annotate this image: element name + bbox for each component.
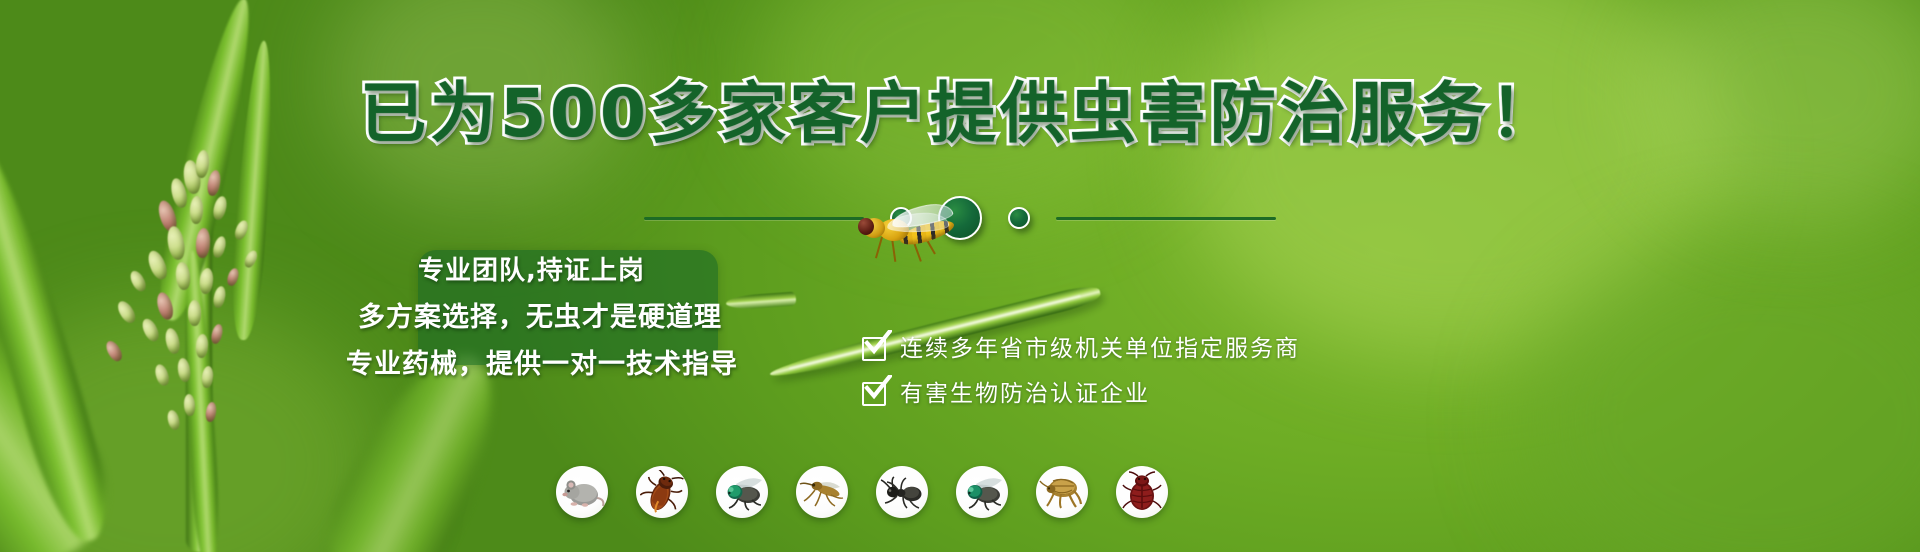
leaf-blade <box>149 0 266 325</box>
divider-dot-large <box>938 196 982 240</box>
divider-rule-left <box>644 217 864 220</box>
pest-icon-blowfly[interactable]: 绿头蝇 <box>956 466 1008 518</box>
divider-dot-small <box>1008 207 1030 229</box>
pest-icon-bedbug[interactable]: 臭虫 <box>1116 466 1168 518</box>
list-item-label: 有害生物防治认证企业 <box>900 381 1150 407</box>
flower-bud <box>183 394 196 417</box>
pest-icon-ant[interactable]: 蚂蚁 <box>876 466 928 518</box>
fly-leg <box>911 237 922 262</box>
flower-bud <box>128 268 149 293</box>
flower-bud <box>153 363 171 388</box>
ant-icon <box>879 471 925 513</box>
pest-icon-cockroach[interactable]: 蟑螂 <box>636 466 688 518</box>
cockroach-icon <box>640 470 684 514</box>
hero-banner: 已为500多家客户提供虫害防治服务！ 专业团队,持证上岗 多方案选择，无虫才是硬… <box>0 0 1920 552</box>
pest-icon-flea[interactable]: 跳蚤 <box>1036 466 1088 518</box>
divider-dot-small <box>890 207 912 229</box>
certification-list: 连续多年省市级机关单位指定服务商 有害生物防治认证企业 <box>862 336 1300 426</box>
flower-bud <box>103 338 124 363</box>
list-item: 连续多年省市级机关单位指定服务商 <box>862 336 1300 362</box>
flower-bud <box>210 323 225 345</box>
background-bokeh-blob <box>1180 0 1720 360</box>
flower-bud <box>225 267 240 287</box>
feature-line-3: 专业药械，提供一对一技术指导 <box>346 349 760 380</box>
divider-rule-right <box>1056 217 1276 220</box>
blowfly-icon <box>958 472 1006 512</box>
pest-icon-housefly[interactable]: 苍蝇 <box>716 466 768 518</box>
flower-bud <box>206 169 222 197</box>
flower-bud <box>188 300 201 326</box>
fly-leg <box>891 238 896 262</box>
flower-bud <box>163 327 181 355</box>
flower-bud <box>176 357 191 382</box>
list-item-label: 连续多年省市级机关单位指定服务商 <box>900 336 1300 362</box>
flower-bud <box>201 365 214 388</box>
page-title: 已为500多家客户提供虫害防治服务！ <box>0 78 1920 150</box>
flower-bud <box>175 261 192 290</box>
feature-line-1: 专业团队,持证上岗 <box>418 256 760 286</box>
flea-icon <box>1039 471 1085 513</box>
page-title-text: 已为500多家客户提供虫害防治服务！ <box>360 75 1560 152</box>
leaf-blade <box>0 259 137 552</box>
flower-bud <box>166 409 182 431</box>
bedbug-icon <box>1121 470 1163 514</box>
mosquito-icon <box>798 471 846 513</box>
divider <box>0 196 1920 240</box>
flower-bud <box>243 249 260 270</box>
list-item: 有害生物防治认证企业 <box>862 381 1300 407</box>
flower-bud <box>139 316 161 343</box>
pest-icon-mouse[interactable]: 鼠 <box>556 466 608 518</box>
flower-bud <box>145 248 170 281</box>
pest-icon-mosquito[interactable]: 蚊 <box>796 466 848 518</box>
housefly-icon <box>718 472 766 512</box>
background-bokeh-blob <box>0 300 380 552</box>
flower-bud <box>199 267 215 294</box>
checkbox-checked-icon <box>862 337 886 361</box>
mouse-icon <box>559 472 605 512</box>
feature-panel-text: 专业团队,持证上岗 多方案选择，无虫才是硬道理 专业药械，提供一对一技术指导 <box>340 256 760 380</box>
feature-line-2: 多方案选择，无虫才是硬道理 <box>358 302 760 333</box>
leaf-blade <box>179 250 222 552</box>
leaf-blade <box>0 128 121 549</box>
pest-icon-row: 鼠 蟑螂 <box>556 466 1168 518</box>
flower-bud <box>182 159 203 195</box>
checkbox-checked-icon <box>862 382 886 406</box>
flower-bud <box>195 334 209 359</box>
flower-bud <box>115 298 139 325</box>
flower-bud <box>205 401 218 422</box>
flower-bud <box>212 285 227 309</box>
background-bokeh-blob <box>1520 230 1920 552</box>
flower-bud <box>154 291 175 322</box>
flower-bud <box>195 149 211 178</box>
